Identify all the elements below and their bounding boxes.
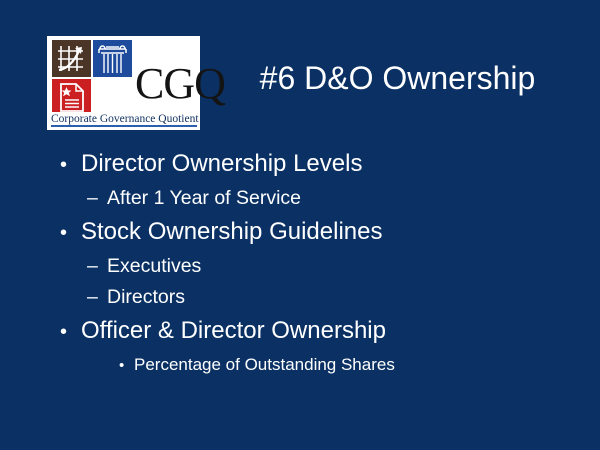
slide-title: #6 D&O Ownership <box>205 58 590 98</box>
chart-growth-icon <box>52 40 91 77</box>
logo-icon-grid <box>52 40 132 116</box>
bullet-item: – After 1 Year of Service <box>0 183 600 214</box>
bullet-marker: – <box>87 183 107 214</box>
bullet-text: Directors <box>107 282 185 313</box>
bullet-item: – Executives <box>0 251 600 282</box>
bullet-text: Director Ownership Levels <box>81 146 362 181</box>
bullet-text: Percentage of Outstanding Shares <box>134 350 395 379</box>
bullet-text: Executives <box>107 251 201 282</box>
bullet-item: – Directors <box>0 282 600 313</box>
bullet-marker: – <box>87 251 107 282</box>
document-star-icon <box>52 79 91 116</box>
presentation-slide: CGQ Corporate Governance Quotient #6 D&O… <box>0 0 600 450</box>
blank-tile <box>93 79 132 116</box>
cgq-tagline: Corporate Governance Quotient <box>51 113 197 126</box>
bullet-marker: – <box>87 282 107 313</box>
bullet-item: • Officer & Director Ownership <box>0 313 600 350</box>
bullet-item: • Director Ownership Levels <box>0 146 600 183</box>
bullet-marker: • <box>60 315 81 350</box>
bullet-item: • Stock Ownership Guidelines <box>0 214 600 251</box>
bullet-text: Officer & Director Ownership <box>81 313 386 348</box>
bullet-text: After 1 Year of Service <box>107 183 301 214</box>
cgq-logo: CGQ Corporate Governance Quotient <box>47 36 200 130</box>
bullet-item: • Percentage of Outstanding Shares <box>0 350 600 380</box>
bullet-marker: • <box>60 216 81 251</box>
bullet-marker: • <box>119 351 134 380</box>
bullet-text: Stock Ownership Guidelines <box>81 214 382 249</box>
classical-column-icon <box>93 40 132 77</box>
bullet-marker: • <box>60 148 81 183</box>
slide-body: • Director Ownership Levels – After 1 Ye… <box>0 146 600 380</box>
